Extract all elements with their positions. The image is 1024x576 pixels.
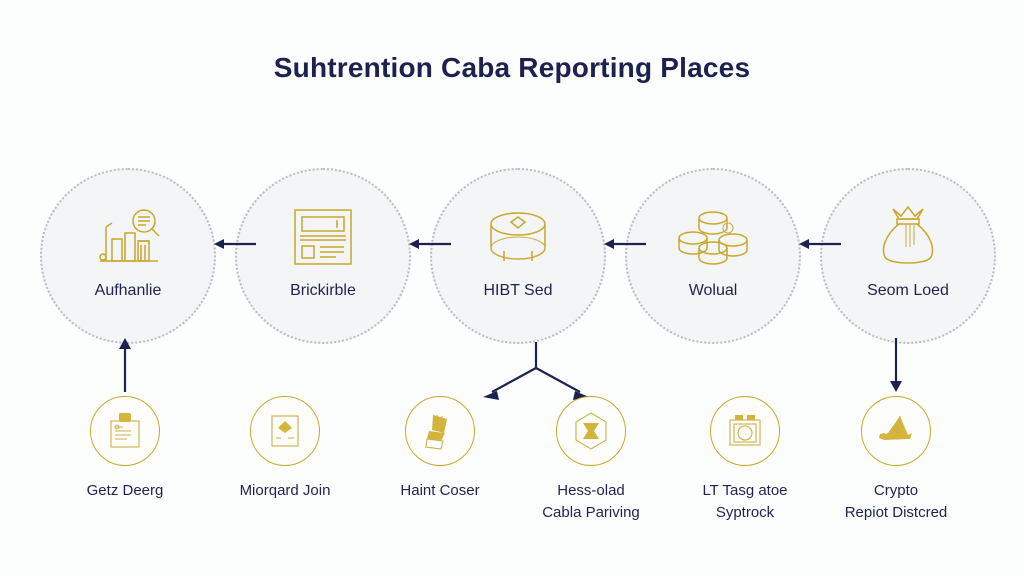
arrow-seomloed-down	[885, 336, 907, 394]
coin-jar-icon	[481, 204, 555, 270]
gold-nugget-icon	[861, 396, 931, 466]
top-node-wolual[interactable]: Wolual	[625, 168, 801, 344]
bottom-node-getz-deerg[interactable]: Getz Deerg	[51, 396, 199, 502]
bottom-node-miorqard-join[interactable]: Miorqard Join	[211, 396, 359, 502]
bottom-node-label-line1: Haint Coser	[400, 482, 479, 499]
camera-box-icon	[710, 396, 780, 466]
bottom-node-label: Haint Coser	[360, 480, 520, 502]
top-node-label: Wolual	[629, 282, 797, 300]
bottom-node-label: Getz Deerg	[45, 480, 205, 502]
bottom-node-label-line2: Syptrock	[665, 502, 825, 524]
top-node-label: Seom Loed	[824, 282, 992, 300]
top-node-label: Aufhanlie	[44, 282, 212, 300]
bottom-node-label-line1: Getz Deerg	[87, 482, 164, 499]
bottom-node-crypto-repiot[interactable]: Crypto Repiot Distcred	[822, 396, 970, 524]
bottom-node-haint-coser[interactable]: Haint Coser	[366, 396, 514, 502]
bottom-node-label-line2: Repiot Distcred	[816, 502, 976, 524]
money-bag-icon	[871, 204, 945, 270]
hexagon-box-icon	[556, 396, 626, 466]
bottom-node-label: Miorqard Join	[205, 480, 365, 502]
arrow-getzdeerg-up	[114, 336, 136, 394]
framed-receipt-icon	[250, 396, 320, 466]
bottom-node-label: Hess-olad Cabla Pariving	[511, 480, 671, 524]
bottom-node-hess-olad[interactable]: Hess-olad Cabla Pariving	[517, 396, 665, 524]
page-title: Suhtrention Caba Reporting Places	[0, 52, 1024, 84]
bottom-node-lt-tasg-atoe[interactable]: LT Tasg atoe Syptrock	[671, 396, 819, 524]
bottom-node-label: Crypto Repiot Distcred	[816, 480, 976, 524]
bottom-node-label-line1: Hess-olad	[557, 482, 625, 499]
flow-diagram: Suhtrention Caba Reporting Places Aufhan…	[0, 0, 1024, 576]
top-node-label: Brickirble	[239, 282, 407, 300]
top-node-aufhanlie[interactable]: Aufhanlie	[40, 168, 216, 344]
top-node-hibt-sed[interactable]: HIBT Sed	[430, 168, 606, 344]
arrow-hibtsed-branch	[470, 340, 600, 400]
bottom-node-label-line1: Crypto	[874, 482, 918, 499]
top-node-label: HIBT Sed	[434, 282, 602, 300]
top-node-seom-loed[interactable]: Seom Loed	[820, 168, 996, 344]
bar-chart-search-icon	[91, 204, 165, 270]
certificate-document-icon	[90, 396, 160, 466]
document-form-icon	[286, 204, 360, 270]
bottom-node-label-line1: LT Tasg atoe	[702, 482, 787, 499]
stacked-coins-icon	[676, 204, 750, 270]
bottom-node-label-line2: Cabla Pariving	[511, 502, 671, 524]
bottom-node-label-line1: Miorqard Join	[240, 482, 331, 499]
bottom-node-label: LT Tasg atoe Syptrock	[665, 480, 825, 524]
gift-package-icon	[405, 396, 475, 466]
top-node-brickirble[interactable]: Brickirble	[235, 168, 411, 344]
